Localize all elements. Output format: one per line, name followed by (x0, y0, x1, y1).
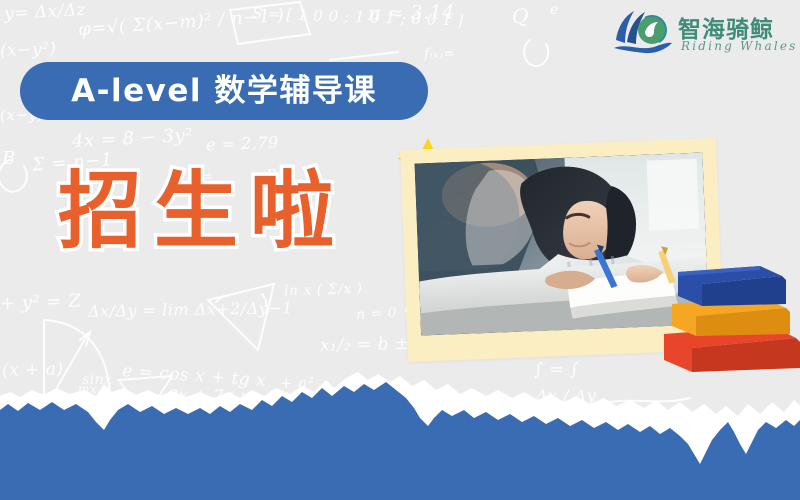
brand-logo: 智海骑鲸 Riding Whales (612, 6, 794, 62)
course-title-badge: A-level 数学辅导课 (20, 62, 428, 120)
torn-paper-wave-icon (0, 370, 800, 500)
whale-wave-logo-icon (612, 10, 674, 58)
page-title: 招生啦 (58, 166, 346, 257)
course-title-label: A-level 数学辅导课 (71, 76, 377, 107)
book-stack-icon (660, 256, 800, 372)
logo-name-en: Riding Whales (681, 39, 798, 53)
promo-poster: y= Δx/Δz(x−y²)φ=√( Σ(x−m)² / n−1 )S = [ … (0, 0, 800, 500)
